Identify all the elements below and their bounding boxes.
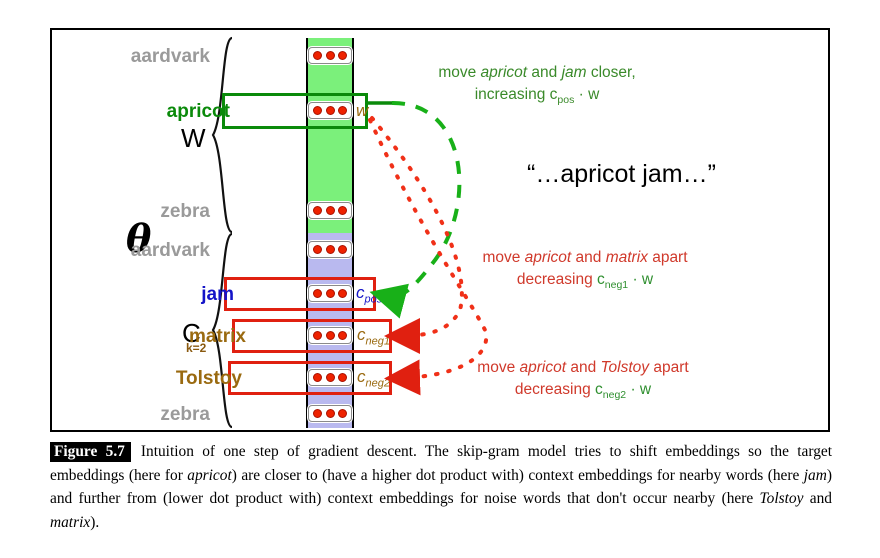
embedding-dot <box>313 206 322 215</box>
embedding-dot <box>326 289 335 298</box>
annotation-negative-1-line1: move apricot and matrix apart <box>450 247 720 269</box>
vector-symbol-subscript: neg2 <box>366 377 390 389</box>
embedding-dot <box>338 51 347 60</box>
embedding-dot <box>338 206 347 215</box>
row-label-w-zebra: zebra <box>100 201 210 223</box>
embedding-cell-c-zebra <box>308 405 352 422</box>
embedding-cell-c-tolstoy <box>308 369 352 386</box>
embedding-dot <box>338 373 347 382</box>
annotation-negative-2-line1: move apricot and Tolstoy apart <box>448 357 718 379</box>
embedding-dot <box>326 51 335 60</box>
annotation-negative-2-line2: decreasing cneg2 · w <box>448 379 718 406</box>
embedding-dot <box>313 51 322 60</box>
embedding-cell-w-apricot <box>308 102 352 119</box>
embedding-dot <box>326 373 335 382</box>
vector-symbol-c-neg2: cneg2 <box>357 367 390 389</box>
embedding-cell-w-zebra <box>308 202 352 219</box>
embedding-dot <box>338 409 347 418</box>
embedding-dot <box>313 409 322 418</box>
context-quote: “…apricot jam…” <box>527 160 716 189</box>
embedding-dot <box>326 409 335 418</box>
embedding-dot <box>313 373 322 382</box>
vector-symbol-c-pos: cpos <box>356 283 382 305</box>
vector-symbol-subscript: neg1 <box>366 335 390 347</box>
w-matrix-label: W <box>181 123 206 154</box>
row-label-c-tolstoy: Tolstoy <box>118 368 242 390</box>
w-brace <box>208 36 234 236</box>
embedding-cell-c-aardvark <box>308 241 352 258</box>
embedding-dot <box>338 106 347 115</box>
embedding-cell-w-aardvark <box>308 47 352 64</box>
embedding-dot <box>313 289 322 298</box>
annotation-positive-line1: move apricot and jam closer, <box>412 62 662 84</box>
embedding-dot <box>326 206 335 215</box>
row-label-c-zebra: zebra <box>100 404 210 426</box>
annotation-positive: move apricot and jam closer, increasing … <box>412 62 662 111</box>
embedding-dot <box>313 245 322 254</box>
annotation-positive-line2: increasing cpos · w <box>412 84 662 111</box>
embedding-dot <box>326 106 335 115</box>
annotation-negative-2: move apricot and Tolstoy apart decreasin… <box>448 357 718 406</box>
embedding-dot <box>326 331 335 340</box>
vector-symbol-base: c <box>357 325 366 344</box>
row-label-c-aardvark: aardvark <box>100 240 210 262</box>
highlight-box-jam <box>224 277 376 311</box>
annotation-negative-1: move apricot and matrix apart decreasing… <box>450 247 720 296</box>
embedding-dot <box>338 245 347 254</box>
row-label-c-jam: jam <box>140 284 234 306</box>
embedding-dot <box>313 106 322 115</box>
embedding-cell-c-jam <box>308 285 352 302</box>
embedding-dot <box>326 245 335 254</box>
vector-symbol-w: w <box>356 101 368 121</box>
row-label-w-apricot: apricot <box>120 101 230 123</box>
vector-symbol-base: c <box>357 367 366 386</box>
vector-symbol-c-neg1: cneg1 <box>357 325 390 347</box>
vector-symbol-base: c <box>356 283 365 302</box>
annotation-negative-1-line2: decreasing cneg1 · w <box>450 269 720 296</box>
row-label-w-aardvark: aardvark <box>100 46 210 68</box>
embedding-dot <box>338 331 347 340</box>
figure-caption: Figure 5.7Intuition of one step of gradi… <box>50 440 832 534</box>
embedding-cell-c-matrix <box>308 327 352 344</box>
figure-number-tag: Figure 5.7 <box>50 442 131 462</box>
figure-caption-text: Intuition of one step of gradient descen… <box>50 443 832 531</box>
embedding-dot <box>313 331 322 340</box>
vector-symbol-subscript: pos <box>365 293 383 305</box>
embedding-dot <box>338 289 347 298</box>
row-label-c-matrix: matrix <box>122 326 246 348</box>
